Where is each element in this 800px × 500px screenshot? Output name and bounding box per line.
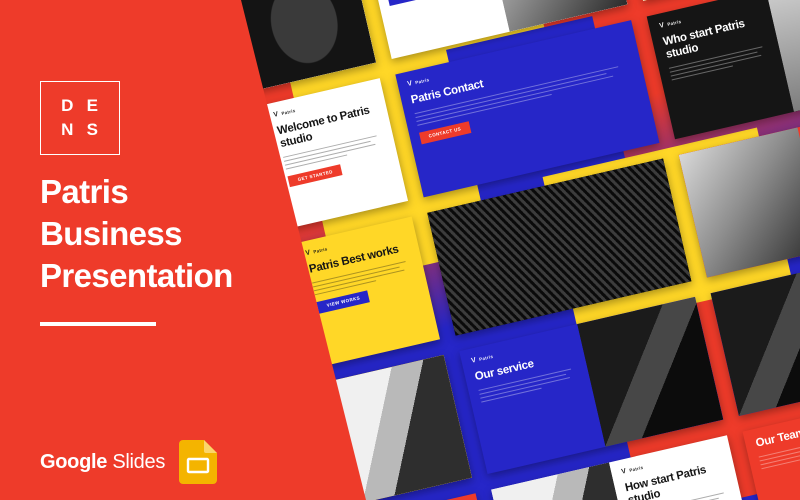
cover-content: D E N S Patris Business Presentation Goo… [0,0,241,500]
brand-label: Patris [667,19,682,28]
title-line-3: Presentation [40,255,310,297]
brand-mark-icon: V [273,111,279,119]
brand-label: Patris [281,108,296,117]
slide-title: Our Team [755,415,800,450]
slide-thumbnail[interactable]: VPatrisWho start Patris studio [647,0,800,139]
page-title: Patris Business Presentation [40,171,310,297]
google-slides-badge: Google Slides [40,440,217,484]
google-word: Google [40,451,107,473]
logo-letter-e: E [87,96,99,116]
title-line-1: Patris [40,171,310,213]
google-slides-label: Google Slides [40,451,165,474]
poster-canvas: VPatrisPatris PortfolioVIEW MOREVPatrisJ… [0,0,800,500]
title-divider [40,322,156,326]
brand-label: Patris [313,246,328,255]
slide-photo [711,266,800,416]
slide-cta-button[interactable]: CONTACT US [419,121,471,144]
slide-photo [679,128,800,278]
brand-mark-icon: V [621,468,627,476]
dens-logo: D E N S [40,81,120,155]
brand-mark-icon: V [407,80,413,88]
logo-letter-n: N [61,120,74,140]
google-slides-icon [179,440,217,484]
brand-label: Patris [479,354,494,363]
brand-label: Patris [415,77,430,86]
slides-word: Slides [112,451,165,473]
brand-label: Patris [629,465,644,474]
brand-mark-icon: V [659,22,665,30]
slide-cta-button[interactable]: READ MORE [387,0,437,6]
logo-letter-d: D [61,96,74,116]
slide-cta-button[interactable]: VIEW WORKS [317,290,370,313]
title-line-2: Business [40,213,310,255]
brand-mark-icon: V [471,357,477,365]
dens-logo-letters: D E N S [41,82,119,154]
logo-letter-s: S [87,120,99,140]
brand-mark-icon: V [305,249,311,257]
